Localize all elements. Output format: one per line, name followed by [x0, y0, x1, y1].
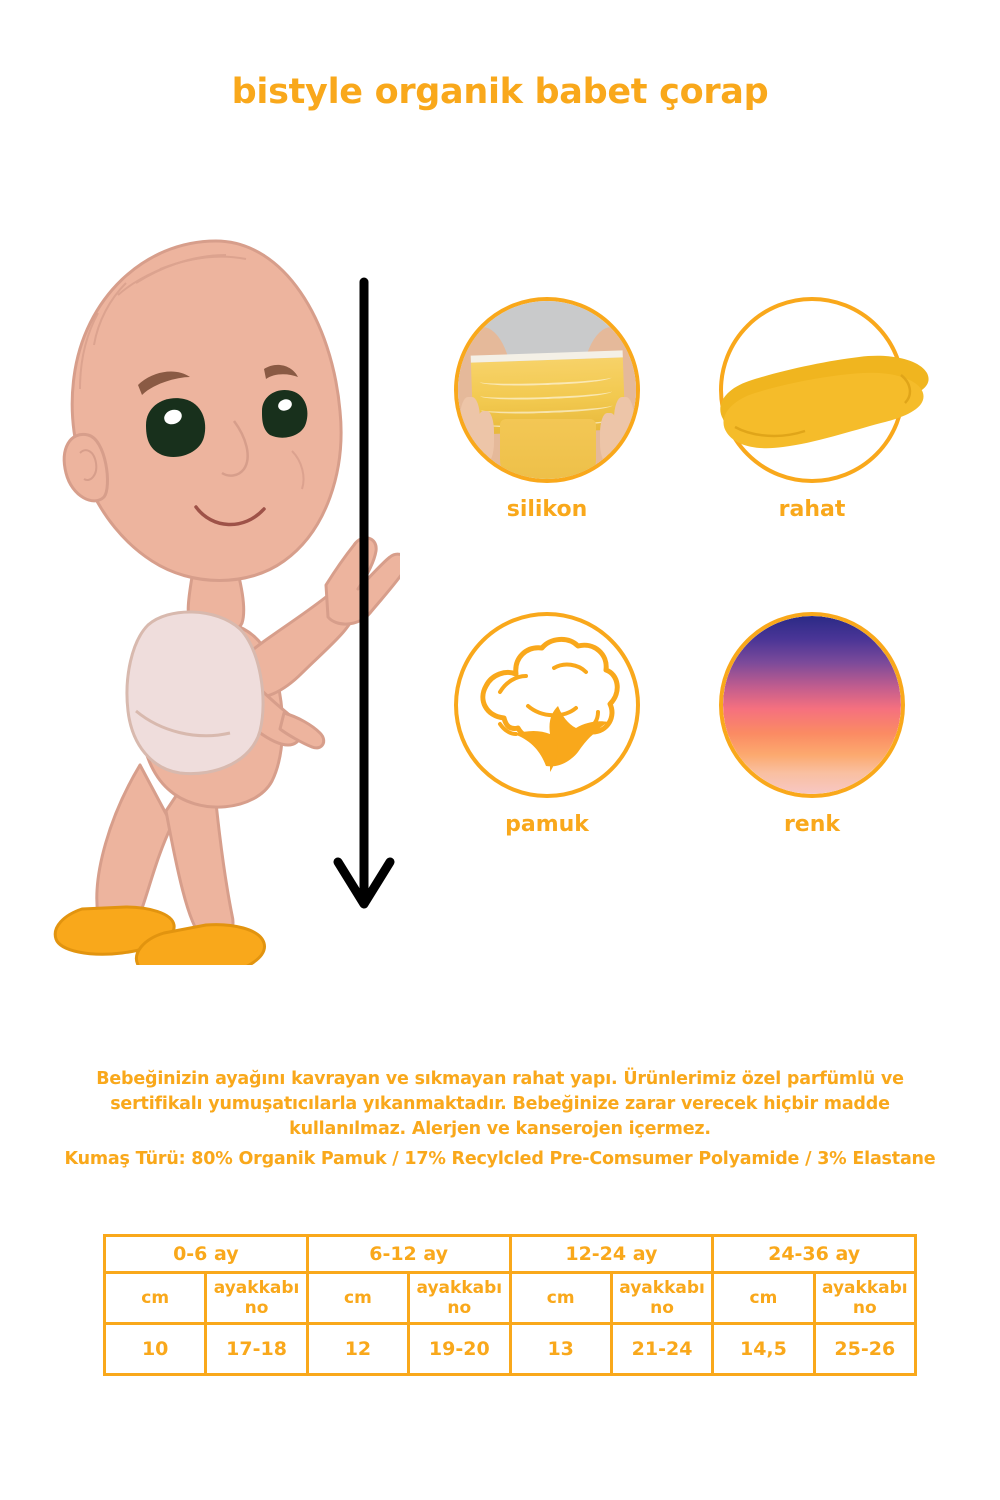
renk-gradient-circle [719, 612, 905, 798]
age-group-cell: 6-12 ay [307, 1236, 510, 1273]
age-group-cell: 12-24 ay [510, 1236, 713, 1273]
page-title: bistyle organik babet çorap [0, 72, 1000, 112]
sub-header-cell: ayakkabı no [206, 1273, 307, 1324]
age-group-cell: 24-36 ay [713, 1236, 916, 1273]
feature-caption: pamuk [414, 812, 680, 837]
pamuk-icon-circle [454, 612, 640, 798]
feature-caption: renk [679, 812, 945, 837]
table-row-age-groups: 0-6 ay 6-12 ay 12-24 ay 24-36 ay [105, 1236, 916, 1273]
sub-header-cell: cm [713, 1273, 814, 1324]
rahat-photo-circle [719, 297, 905, 483]
value-cell: 10 [105, 1324, 206, 1375]
yellow-no-show-socks-photo [705, 331, 935, 461]
value-cell: 19-20 [409, 1324, 510, 1375]
down-arrow-indicator [330, 270, 410, 930]
sock-silicone-grip-photo [458, 301, 636, 479]
value-cell: 13 [510, 1324, 611, 1375]
sub-header-cell: ayakkabı no [814, 1273, 915, 1324]
value-cell: 25-26 [814, 1324, 915, 1375]
feature-caption: silikon [414, 497, 680, 522]
color-gradient-swatch [723, 616, 901, 794]
feature-pamuk: pamuk [454, 612, 640, 798]
down-arrow-icon [338, 282, 390, 904]
product-description: Bebeğinizin ayağını kavrayan ve sıkmayan… [60, 1067, 940, 1142]
product-infographic-page: bistyle organik babet çorap [0, 0, 1000, 1500]
sub-header-cell: cm [307, 1273, 408, 1324]
fabric-composition: Kumaş Türü: 80% Organik Pamuk / 17% Recy… [60, 1149, 940, 1169]
table-row-sub-headers: cm ayakkabı no cm ayakkabı no cm ayakkab… [105, 1273, 916, 1324]
value-cell: 14,5 [713, 1324, 814, 1375]
silikon-photo-circle [454, 297, 640, 483]
sub-header-cell: ayakkabı no [409, 1273, 510, 1324]
feature-caption: rahat [679, 497, 945, 522]
sock-body [500, 419, 596, 483]
table-row-values: 10 17-18 12 19-20 13 21-24 14,5 25-26 [105, 1324, 916, 1375]
age-group-cell: 0-6 ay [105, 1236, 308, 1273]
size-chart-table: 0-6 ay 6-12 ay 12-24 ay 24-36 ay cm ayak… [103, 1234, 917, 1376]
feature-silikon: silikon [454, 297, 640, 483]
feature-renk: renk [719, 612, 905, 798]
sub-header-cell: ayakkabı no [611, 1273, 712, 1324]
value-cell: 12 [307, 1324, 408, 1375]
value-cell: 17-18 [206, 1324, 307, 1375]
sub-header-cell: cm [105, 1273, 206, 1324]
value-cell: 21-24 [611, 1324, 712, 1375]
sub-header-cell: cm [510, 1273, 611, 1324]
cotton-boll-icon [458, 616, 636, 794]
feature-rahat: rahat [719, 297, 905, 483]
